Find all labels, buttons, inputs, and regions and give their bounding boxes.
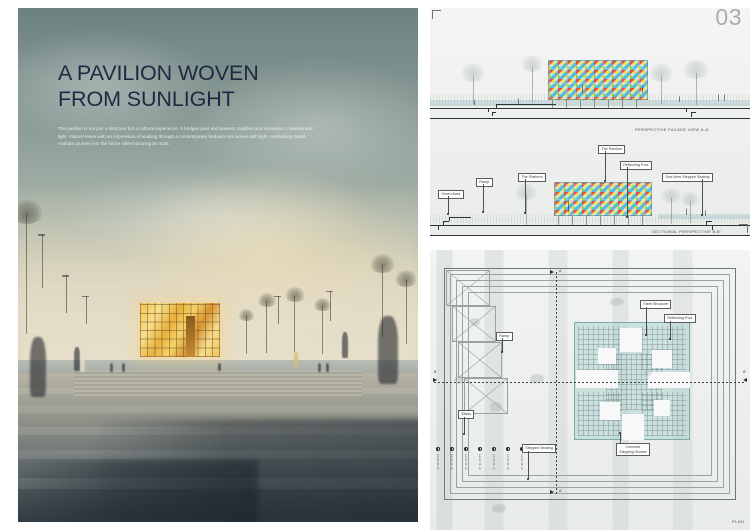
- elevation-tree: [520, 56, 544, 72]
- callout-green-area: Green Area: [438, 190, 464, 199]
- elevation-tree: [682, 60, 710, 79]
- callout-anchor-dot: [669, 338, 671, 340]
- hero-text-block: A PAVILION WOVEN FROM SUNLIGHT The pavil…: [58, 60, 316, 148]
- elevation-step-left: [492, 112, 496, 116]
- callout-anchor-dot: [463, 433, 465, 435]
- dimension-marker: [436, 447, 440, 451]
- callout-plan-concrete-stepping-stones: Concrete Stepping Stones: [616, 443, 650, 456]
- section-column: [600, 216, 601, 225]
- dimension-marker: [464, 447, 468, 451]
- axis-tag-b-right: B': [743, 370, 746, 374]
- presentation-board: A PAVILION WOVEN FROM SUNLIGHT The pavil…: [0, 0, 750, 530]
- hero-render-image: A PAVILION WOVEN FROM SUNLIGHT The pavil…: [18, 8, 418, 522]
- dimension-marker: [492, 447, 496, 451]
- callout-anchor-dot: [619, 432, 621, 434]
- callout-leader: [525, 179, 526, 213]
- callout-anchor-dot: [501, 351, 503, 353]
- elevation-person: [518, 98, 519, 104]
- section-person: [686, 208, 687, 215]
- elevation-column: [580, 100, 581, 108]
- sheet-corner-mark: [739, 224, 748, 233]
- axis-arrow-b-left: [433, 378, 437, 382]
- person-figure: [350, 334, 355, 359]
- dimension-marker: [506, 447, 510, 451]
- callout-plan-reflecting-pool: Reflecting Pool: [664, 314, 696, 323]
- facade-panel-grid: [549, 61, 647, 99]
- section-column: [586, 216, 587, 225]
- sheet-corner-mark: [432, 10, 441, 19]
- section-tree: [680, 192, 700, 206]
- axis-arrow-a-bottom: [550, 490, 554, 494]
- plan-stepping-stone: [652, 350, 672, 368]
- callout-plan-steel-structure: Steel Structure: [640, 300, 671, 309]
- elevation-person: [582, 84, 583, 93]
- callout-plan-stairs: Stairs: [458, 410, 474, 419]
- dimension-label: Level 03 +0: [478, 454, 481, 470]
- section-sea-band: [658, 214, 750, 219]
- section-tree: [514, 184, 538, 200]
- axis-tag-b-left: B: [434, 370, 436, 374]
- elevation-tree: [460, 64, 486, 82]
- callout-the-pavilion: The Pavilion: [598, 145, 625, 154]
- dimension-label: Level 06 +0: [520, 454, 523, 470]
- callout-leader: [483, 184, 484, 212]
- axis-tag-a-bottom: A': [559, 489, 562, 493]
- elevation-step-right: [691, 112, 696, 117]
- street-lamp: [66, 275, 67, 313]
- elevation-caption: PERSPECTIVE FACADE VIEW A-A': [635, 127, 710, 132]
- person-figure: [30, 337, 46, 397]
- elevation-person: [679, 96, 680, 102]
- pavilion-building: [140, 303, 220, 357]
- section-ground-line-2: [430, 235, 750, 236]
- callout-leader: [620, 433, 621, 444]
- elevation-step-left: [496, 104, 556, 108]
- dimension-marker: [478, 447, 482, 451]
- elevation-column: [552, 100, 553, 108]
- elevation-column: [594, 100, 595, 108]
- callout-anchor-dot: [701, 214, 703, 216]
- section-step: [438, 225, 443, 230]
- callout-leader: [670, 321, 671, 339]
- callout-leader: [646, 307, 647, 335]
- plan-ramp-diagonals: [446, 270, 516, 420]
- plaza-steps: [74, 370, 362, 396]
- section-column: [614, 216, 615, 225]
- paving-stripe: [18, 406, 418, 413]
- section-ground-line: [430, 225, 750, 226]
- callout-leader: [448, 196, 449, 214]
- callout-sea-view-stepped-seating: Sea-View Stepped Seating: [662, 173, 713, 182]
- elevation-ground-line-2: [430, 118, 750, 119]
- plan-caption: PLAN: [732, 519, 744, 524]
- callout-anchor-dot: [527, 478, 529, 480]
- section-column: [642, 216, 643, 225]
- axis-arrow-a-top: [550, 270, 554, 274]
- plan-section-axis-b: [434, 382, 746, 383]
- axis-arrow-b-right: [743, 378, 747, 382]
- section-column: [572, 216, 573, 225]
- drawings-column: 03: [430, 0, 750, 530]
- elevation-column: [608, 100, 609, 108]
- plan-stepping-stone: [622, 414, 644, 440]
- callout-the-platform: The Platform: [518, 173, 546, 182]
- page-number: 03: [715, 4, 742, 31]
- elevation-person: [718, 94, 719, 101]
- callout-anchor-dot: [482, 211, 484, 213]
- section-person: [705, 210, 706, 216]
- person-figure: [378, 316, 398, 384]
- callout-anchor-dot: [447, 213, 449, 215]
- plan-planting-blob: [644, 370, 652, 376]
- plan-stepping-stone: [600, 402, 620, 420]
- hero-description: The pavilion is not just a structure but…: [58, 125, 316, 147]
- person-figure: [80, 350, 85, 372]
- callout-anchor-dot: [626, 216, 628, 218]
- elevation-column: [622, 100, 623, 108]
- facade-panel-grid: [555, 183, 651, 215]
- person-figure: [318, 363, 321, 372]
- callout-anchor-dot: [524, 212, 526, 214]
- street-lamp: [278, 296, 279, 324]
- elevation-section-panel: PERSPECTIVE FACADE VIEW A-A': [430, 8, 750, 236]
- plan-stepping-stone: [598, 348, 616, 364]
- callout-leader: [502, 338, 503, 352]
- callout-leader: [627, 167, 628, 217]
- elevation-pavilion-facade: [548, 60, 648, 100]
- section-step: [443, 221, 449, 225]
- callout-reflecting-pool: Reflecting Pool: [620, 161, 652, 170]
- dimension-marker: [450, 447, 454, 451]
- street-lamp: [42, 234, 43, 288]
- person-figure: [218, 363, 221, 371]
- dimension-label: Level 01 +0: [450, 454, 453, 470]
- elevation-column: [636, 100, 637, 108]
- elevation-person: [474, 100, 475, 105]
- section-tree: [660, 188, 682, 203]
- page-title: A PAVILION WOVEN FROM SUNLIGHT: [58, 60, 316, 112]
- elevation-person: [642, 86, 643, 93]
- callout-ramp: Ramp: [476, 178, 493, 187]
- callout-plan-ramp: Ramp: [496, 332, 513, 341]
- dimension-label: Level 02 +0: [464, 454, 467, 470]
- pavilion-entrance: [186, 316, 195, 357]
- plan-stepping-stone: [576, 370, 618, 388]
- ground-shadow: [18, 460, 258, 522]
- person-figure: [110, 363, 113, 372]
- elevation-column: [566, 100, 567, 108]
- plan-section-axis-a: [556, 270, 557, 496]
- section-step: [449, 217, 471, 221]
- section-column: [558, 216, 559, 225]
- person-figure: [342, 332, 348, 358]
- callout-anchor-dot: [604, 180, 606, 182]
- callout-anchor-dot: [645, 334, 647, 336]
- section-column: [628, 216, 629, 225]
- section-person: [568, 200, 569, 212]
- callout-leader: [702, 179, 703, 215]
- plan-stepping-stone: [654, 400, 670, 416]
- person-figure: [294, 352, 298, 367]
- plan-planting-blob: [492, 504, 506, 513]
- elevation-tree: [648, 64, 674, 82]
- plan-panel: A A' B B' Level 00 +0 Level 01 +0 Level …: [430, 250, 750, 530]
- dimension-label: Level 05 +0: [506, 454, 509, 470]
- dimension-label: Level 04 +0: [492, 454, 495, 470]
- axis-tag-a-top: A: [559, 269, 561, 273]
- person-figure: [122, 363, 125, 372]
- callout-leader: [464, 417, 465, 434]
- callout-leader: [528, 451, 529, 479]
- elevation-person: [724, 94, 725, 101]
- section-caption: SECTIONAL PERSPECTIVE B-B': [652, 229, 721, 234]
- elevation-ground-line: [430, 108, 750, 109]
- street-lamp: [86, 296, 87, 324]
- cloud: [58, 162, 378, 265]
- plan-stepping-stone: [620, 328, 642, 352]
- plan-stepping-stone: [648, 372, 690, 388]
- dimension-label: Level 00 +0: [436, 454, 439, 470]
- person-figure: [326, 363, 329, 372]
- street-lamp: [330, 291, 331, 321]
- callout-leader: [605, 151, 606, 181]
